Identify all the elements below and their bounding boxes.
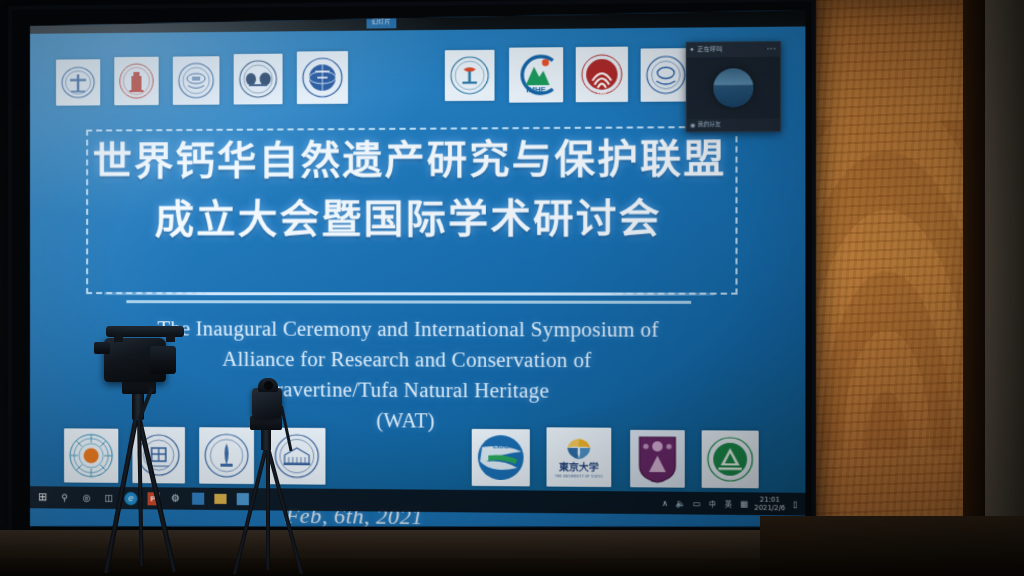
camera2-lens-glass [264,381,273,390]
tripod2-leg-2 [266,447,304,574]
camera-lens [150,346,176,374]
tripod2-center-column [261,428,271,450]
logo-imhe: IMHE [509,47,563,103]
video-call-footer[interactable]: ◉ 我的好友 [687,118,780,131]
microphone-icon: ● [690,47,694,53]
wooden-door [795,0,980,576]
logo-university-seal-9 [641,48,691,102]
video-call-footer-label: 我的好友 [698,119,721,131]
language-icon[interactable]: 英 [723,497,735,509]
tripod2-leg-3 [266,448,270,570]
logo-cigcas: CIGCAS [472,429,530,487]
network-icon[interactable]: ▭ [691,497,703,509]
chinese-title-line-2: 成立大会暨国际学术研讨会 [86,190,733,250]
video-call-title: 正在呼叫 [697,43,722,58]
video-call-body [687,57,780,119]
show-hidden-icons[interactable]: ∧ [659,497,671,509]
door-frame-right [963,0,985,576]
far-right-wall [985,0,1024,576]
logo-university-seal-3 [173,56,220,105]
chinese-title-line-1: 世界钙华自然遗产研究与保护联盟 [86,130,733,192]
logo-university-seal-1 [56,59,100,105]
logo-university-seal-6 [445,50,495,101]
search-icon[interactable]: ⚲ [54,487,75,508]
handle-mount-front [114,334,123,342]
video-call-window[interactable]: ● 正在呼叫 ••• ◉ 我的好友 [686,41,781,132]
svg-text:IMHE: IMHE [526,85,546,94]
tripod2-leg-1 [233,448,268,575]
tokyo-label-en: THE UNIVERSITY OF TOKYO [555,474,603,478]
logo-university-seal-8: 1898 [576,47,628,103]
more-options-icon[interactable]: ••• [767,46,777,52]
logo-university-of-tokyo: 東京大学 THE UNIVERSITY OF TOKYO [547,427,612,487]
start-button[interactable]: ⊞ [32,487,53,508]
action-center-icon[interactable]: ▯ [789,498,801,510]
slide-chinese-title: 世界钙华自然遗产研究与保护联盟 成立大会暨国际学术研讨会 [86,130,733,250]
tripod-leg-1 [104,416,139,574]
tokyo-label-cn: 東京大学 [559,463,599,474]
camera-viewfinder [94,342,110,354]
conference-room-scene: 幻灯片 [0,0,1024,576]
logo-university-seal-5 [297,51,348,104]
clock-time: 21:01 [754,495,785,504]
logo-university-crest-purple [630,430,685,488]
svg-text:CIGCAS: CIGCAS [493,444,517,450]
handle-mount-rear [166,334,175,342]
top-logo-row: IMHE 1898 [56,43,778,105]
video-camera-rig-back [228,372,324,576]
logo-university-seal-green [702,430,759,488]
floor [760,516,1024,576]
input-method-icon[interactable]: 中 [707,497,719,509]
svg-text:1898: 1898 [597,91,607,96]
tripod2-head [250,416,282,430]
clock-date: 2021/2/6 [754,504,785,513]
wood-arch-pattern [801,120,972,450]
taskbar-clock[interactable]: 21:01 2021/2/6 [754,495,785,512]
camera2-body [252,388,282,418]
logo-university-seal-4 [234,54,283,105]
video-call-titlebar[interactable]: ● 正在呼叫 ••• [687,42,780,57]
volume-icon[interactable]: 🔈 [675,497,687,509]
system-tray: ∧ 🔈 ▭ 中 英 ▦ 21:01 2021/2/6 ▯ [659,495,805,513]
title-underline-secondary [126,300,691,304]
contact-icon: ◉ [690,122,696,129]
title-underline-primary [104,292,714,296]
video-camera-rig-front [88,312,208,576]
logo-university-seal-2 [114,57,158,106]
keyboard-icon[interactable]: ▦ [738,497,750,509]
participant-avatar [713,68,753,107]
